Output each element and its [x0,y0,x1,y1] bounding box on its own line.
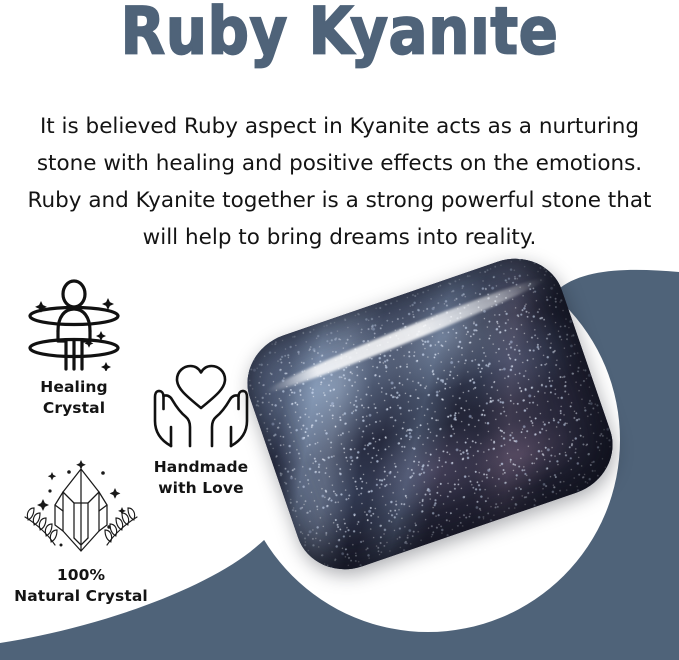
badge-handmade-with-love-label: Handmade with Love [140,457,262,499]
hands-holding-heart-icon [151,361,251,451]
healing-aura-figure-icon [22,279,126,371]
product-infographic: Ruby Kyanıte It is believed Ruby aspect … [0,0,679,660]
dotless-i-glyph: ı [470,0,490,69]
badge-healing-crystal-label: Healing Crystal [13,377,135,419]
badge-natural-crystal: 100% Natural Crystal [10,459,152,607]
page-title-dotless-i: ı [470,0,490,63]
badge-natural-crystal-label: 100% Natural Crystal [10,565,152,607]
product-description: It is believed Ruby aspect in Kyanite ac… [22,108,657,256]
page-title-part2: te [490,0,558,69]
badge-handmade-with-love: Handmade with Love [140,361,262,499]
page-title-text: Ruby Kyanıte [121,0,559,63]
crystal-with-laurels-icon [17,459,145,559]
page-title: Ruby Kyanıte [0,2,679,60]
page-title-part1: Ruby Kyan [121,0,470,69]
badge-healing-crystal: Healing Crystal [13,279,135,419]
